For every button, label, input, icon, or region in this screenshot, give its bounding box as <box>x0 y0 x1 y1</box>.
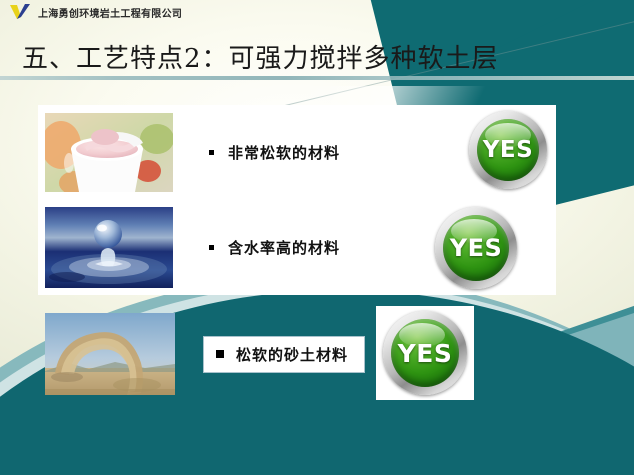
yes-label-3: YES <box>383 311 467 395</box>
bullet-item-1: 非常松软的材料 <box>209 142 340 163</box>
bullet-label-1: 非常松软的材料 <box>228 142 340 163</box>
company-name: 上海勇创环境岩土工程有限公司 <box>38 5 182 20</box>
slide: 上海勇创环境岩土工程有限公司 五、工艺特点2：可强力搅拌多种软土层 <box>0 0 634 475</box>
callout-box-3: 松软的砂土材料 <box>203 336 365 373</box>
yogurt-cup-photo <box>45 113 173 192</box>
yes-badge-3: YES <box>376 306 474 400</box>
water-droplet-photo <box>45 207 173 288</box>
square-bullet-icon <box>209 150 214 155</box>
yes-button-icon: YES <box>383 311 467 395</box>
sand-spray-photo <box>45 313 175 395</box>
yes-badge-2: YES <box>428 201 524 295</box>
square-bullet-icon <box>209 245 214 250</box>
yes-badge-1: YES <box>460 106 556 194</box>
square-bullet-icon <box>216 350 224 358</box>
bullet-label-2: 含水率高的材料 <box>228 237 340 258</box>
slide-header: 上海勇创环境岩土工程有限公司 <box>0 0 634 24</box>
bullet-label-3: 松软的砂土材料 <box>236 344 348 365</box>
title-divider <box>0 76 634 80</box>
yes-label-2: YES <box>435 207 517 289</box>
bullet-item-2: 含水率高的材料 <box>209 237 340 258</box>
content-row-3: 松软的砂土材料 <box>38 308 378 400</box>
page-title: 五、工艺特点2：可强力搅拌多种软土层 <box>22 38 499 75</box>
v-checkmark-logo-icon <box>10 4 32 20</box>
yes-button-icon: YES <box>435 207 517 289</box>
yes-button-icon: YES <box>469 111 547 189</box>
yes-label-1: YES <box>469 111 547 189</box>
